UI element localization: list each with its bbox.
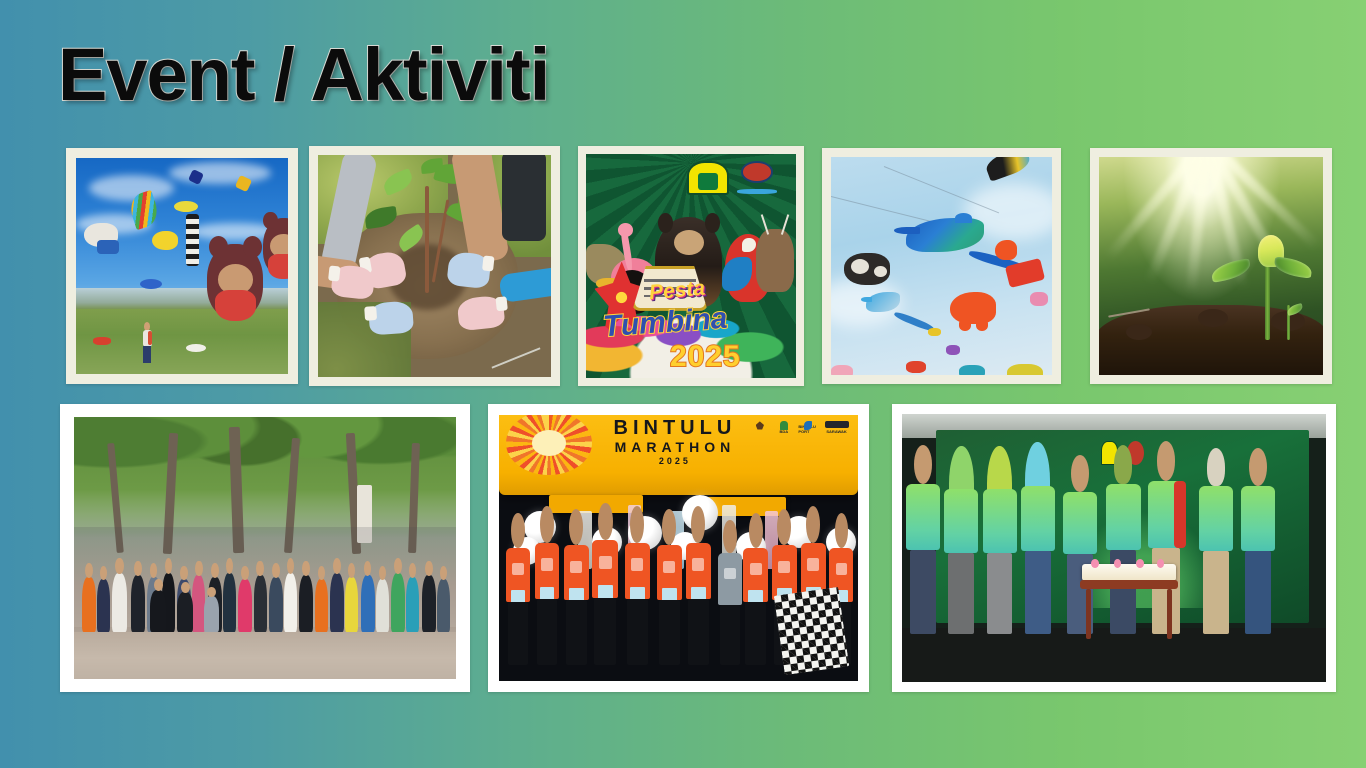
photo-frame-kites-sky[interactable] — [822, 148, 1061, 384]
runner — [535, 543, 559, 665]
bear-body — [268, 254, 288, 278]
marathon-title-line2: MARATHON — [592, 439, 757, 456]
photo-frame-cake-ceremony[interactable] — [892, 404, 1336, 692]
deer-antler-left — [761, 214, 769, 235]
checkered-flag — [774, 586, 849, 674]
runner — [564, 545, 589, 665]
person — [223, 573, 236, 632]
kite-cow — [844, 253, 890, 285]
ceremonial-cake — [1082, 564, 1176, 582]
marathon-title-block: BINTULU MARATHON 2025 — [592, 418, 757, 466]
person — [269, 577, 283, 632]
person — [406, 577, 419, 632]
person — [299, 575, 313, 632]
photo-tree-planting — [318, 155, 551, 377]
kite-purple-small — [946, 345, 960, 355]
runner — [743, 548, 768, 665]
photo-pesta-tumbina-poster: Pesta Tumbina 2025 — [586, 154, 796, 378]
person-front-child — [204, 596, 219, 632]
kite-pink-small — [1030, 292, 1048, 306]
official-person — [983, 489, 1017, 634]
deer-antler-right — [780, 214, 788, 235]
photo-sapling — [1099, 157, 1323, 375]
seahorse-body — [906, 218, 984, 252]
bear-body — [215, 290, 255, 321]
runner — [625, 543, 650, 665]
kite-bear-mascot-large — [207, 244, 263, 318]
person — [330, 573, 344, 632]
cake-rose — [1114, 559, 1121, 568]
poster-word-pesta: Pesta — [648, 276, 706, 305]
kite-seahorse-small — [866, 292, 900, 312]
official-person — [1241, 486, 1275, 633]
sponsor-logo-row: BDA BINTULU PORT SARAWAK — [750, 421, 851, 434]
person-front-child — [177, 592, 193, 632]
table-leg — [1086, 589, 1091, 639]
soil-clod — [1126, 324, 1152, 340]
person-front-child — [150, 590, 166, 632]
poster-word-tumbina: Tumbina — [602, 301, 729, 344]
person — [391, 573, 405, 632]
poster-logo-row — [687, 161, 792, 199]
seahorse-snout — [894, 227, 921, 234]
person — [361, 575, 375, 632]
person-legs — [143, 346, 150, 363]
person-walking — [140, 322, 155, 362]
photo-frame-kite-festival[interactable] — [66, 148, 298, 384]
cake-rose — [1136, 559, 1143, 568]
glove-cuff — [328, 265, 340, 281]
photo-frame-pesta-tumbina[interactable]: Pesta Tumbina 2025 — [578, 146, 804, 386]
cow-patch — [851, 259, 869, 274]
photo-kite-festival — [76, 158, 288, 374]
glove-cuff — [495, 296, 507, 311]
flamingo-head — [618, 223, 634, 237]
photo-frame-group-run[interactable] — [60, 404, 470, 692]
glove-blue-right — [447, 251, 492, 289]
sapling-stem — [425, 186, 429, 293]
seahorse-body — [866, 292, 900, 312]
person — [437, 579, 450, 631]
emblem-wave — [737, 189, 777, 194]
kite-white-ground — [186, 344, 206, 352]
photo-kites-sky — [831, 157, 1052, 375]
bear-ear-left — [658, 213, 673, 233]
runner — [686, 543, 711, 665]
person — [284, 573, 297, 632]
person — [345, 577, 358, 632]
person — [82, 577, 96, 632]
person — [315, 579, 328, 631]
kite-red-ground — [93, 337, 111, 345]
person — [112, 573, 127, 632]
kite-yellow-cat — [152, 231, 178, 250]
kite-yellow-small — [928, 328, 941, 336]
emblem-sphere — [741, 161, 773, 182]
page-title: Event / Aktiviti — [58, 38, 549, 112]
kite-small-orange — [995, 240, 1017, 260]
kite-blue-pair — [140, 279, 162, 289]
sarawak-crest-logo — [750, 421, 769, 434]
kite-seahorse — [906, 218, 984, 252]
kite-yellow-bottom-right — [1007, 364, 1043, 375]
person — [376, 579, 389, 631]
department-emblem-icon — [736, 161, 778, 195]
marathon-title-year: 2025 — [592, 456, 757, 466]
bintulu-council-logo: BDA — [774, 421, 793, 434]
glove-cuff — [365, 305, 377, 320]
person — [97, 579, 110, 631]
kite-smiley-oval — [174, 201, 198, 212]
runner — [718, 553, 742, 665]
crowd-of-participants — [74, 527, 456, 632]
runner — [592, 540, 618, 665]
person-backpack — [148, 331, 153, 345]
photo-bintulu-marathon: BINTULU MARATHON 2025 BDA BINTULU PORT — [499, 415, 858, 681]
council-emblem-icon — [687, 161, 729, 195]
bintulu-port-logo: BINTULU PORT — [798, 421, 817, 434]
photo-group-run — [74, 417, 456, 679]
seahorse-snout — [861, 297, 873, 301]
marathon-title-line1: BINTULU — [592, 418, 757, 439]
kite-pink-bottom-left — [831, 365, 853, 375]
person — [254, 575, 267, 632]
table-leg — [1167, 589, 1172, 639]
runner — [506, 548, 530, 665]
glove-blue-bottom — [368, 300, 414, 335]
marathon-arch: BINTULU MARATHON 2025 BDA BINTULU PORT — [499, 415, 858, 495]
table-top — [1080, 580, 1178, 590]
kite-teal-bottom — [959, 365, 985, 375]
leg-dark-trouser — [502, 155, 546, 241]
official-person — [1199, 486, 1233, 633]
kite-striped-column — [186, 214, 199, 266]
kite-orange-dino — [950, 292, 996, 324]
photo-cake-ceremony — [902, 414, 1326, 682]
photo-frame-sapling[interactable] — [1090, 148, 1332, 384]
poster-word-year: 2025 — [670, 340, 741, 374]
person — [131, 575, 145, 632]
cake-rose — [1157, 559, 1164, 568]
kite-blue-bear-shirt — [97, 240, 119, 254]
tree-canopy — [74, 417, 456, 538]
photo-frame-tree-planting[interactable] — [309, 146, 560, 386]
official-person — [1021, 486, 1055, 633]
paved-ground — [74, 627, 456, 679]
bear-muzzle — [674, 230, 704, 255]
bear-ear-right — [705, 213, 720, 233]
poster-title-block: Pesta Tumbina 2025 — [586, 271, 796, 374]
photo-frame-bintulu-marathon[interactable]: BINTULU MARATHON 2025 BDA BINTULU PORT — [488, 404, 869, 692]
dino-leg — [959, 320, 971, 331]
official-person — [906, 484, 940, 634]
ceremony-table — [1080, 559, 1178, 639]
kite-red-bottom — [906, 361, 926, 373]
cow-patch — [874, 266, 887, 277]
person — [238, 579, 252, 631]
cake-rose — [1091, 559, 1098, 568]
sunburst-logo-icon — [506, 415, 592, 475]
person — [422, 575, 436, 632]
sarawak-logo: SARAWAK — [822, 421, 850, 434]
seahorse-fin — [955, 213, 972, 223]
runner — [657, 545, 682, 665]
official-person — [944, 489, 978, 634]
soil-clod — [1198, 309, 1228, 327]
